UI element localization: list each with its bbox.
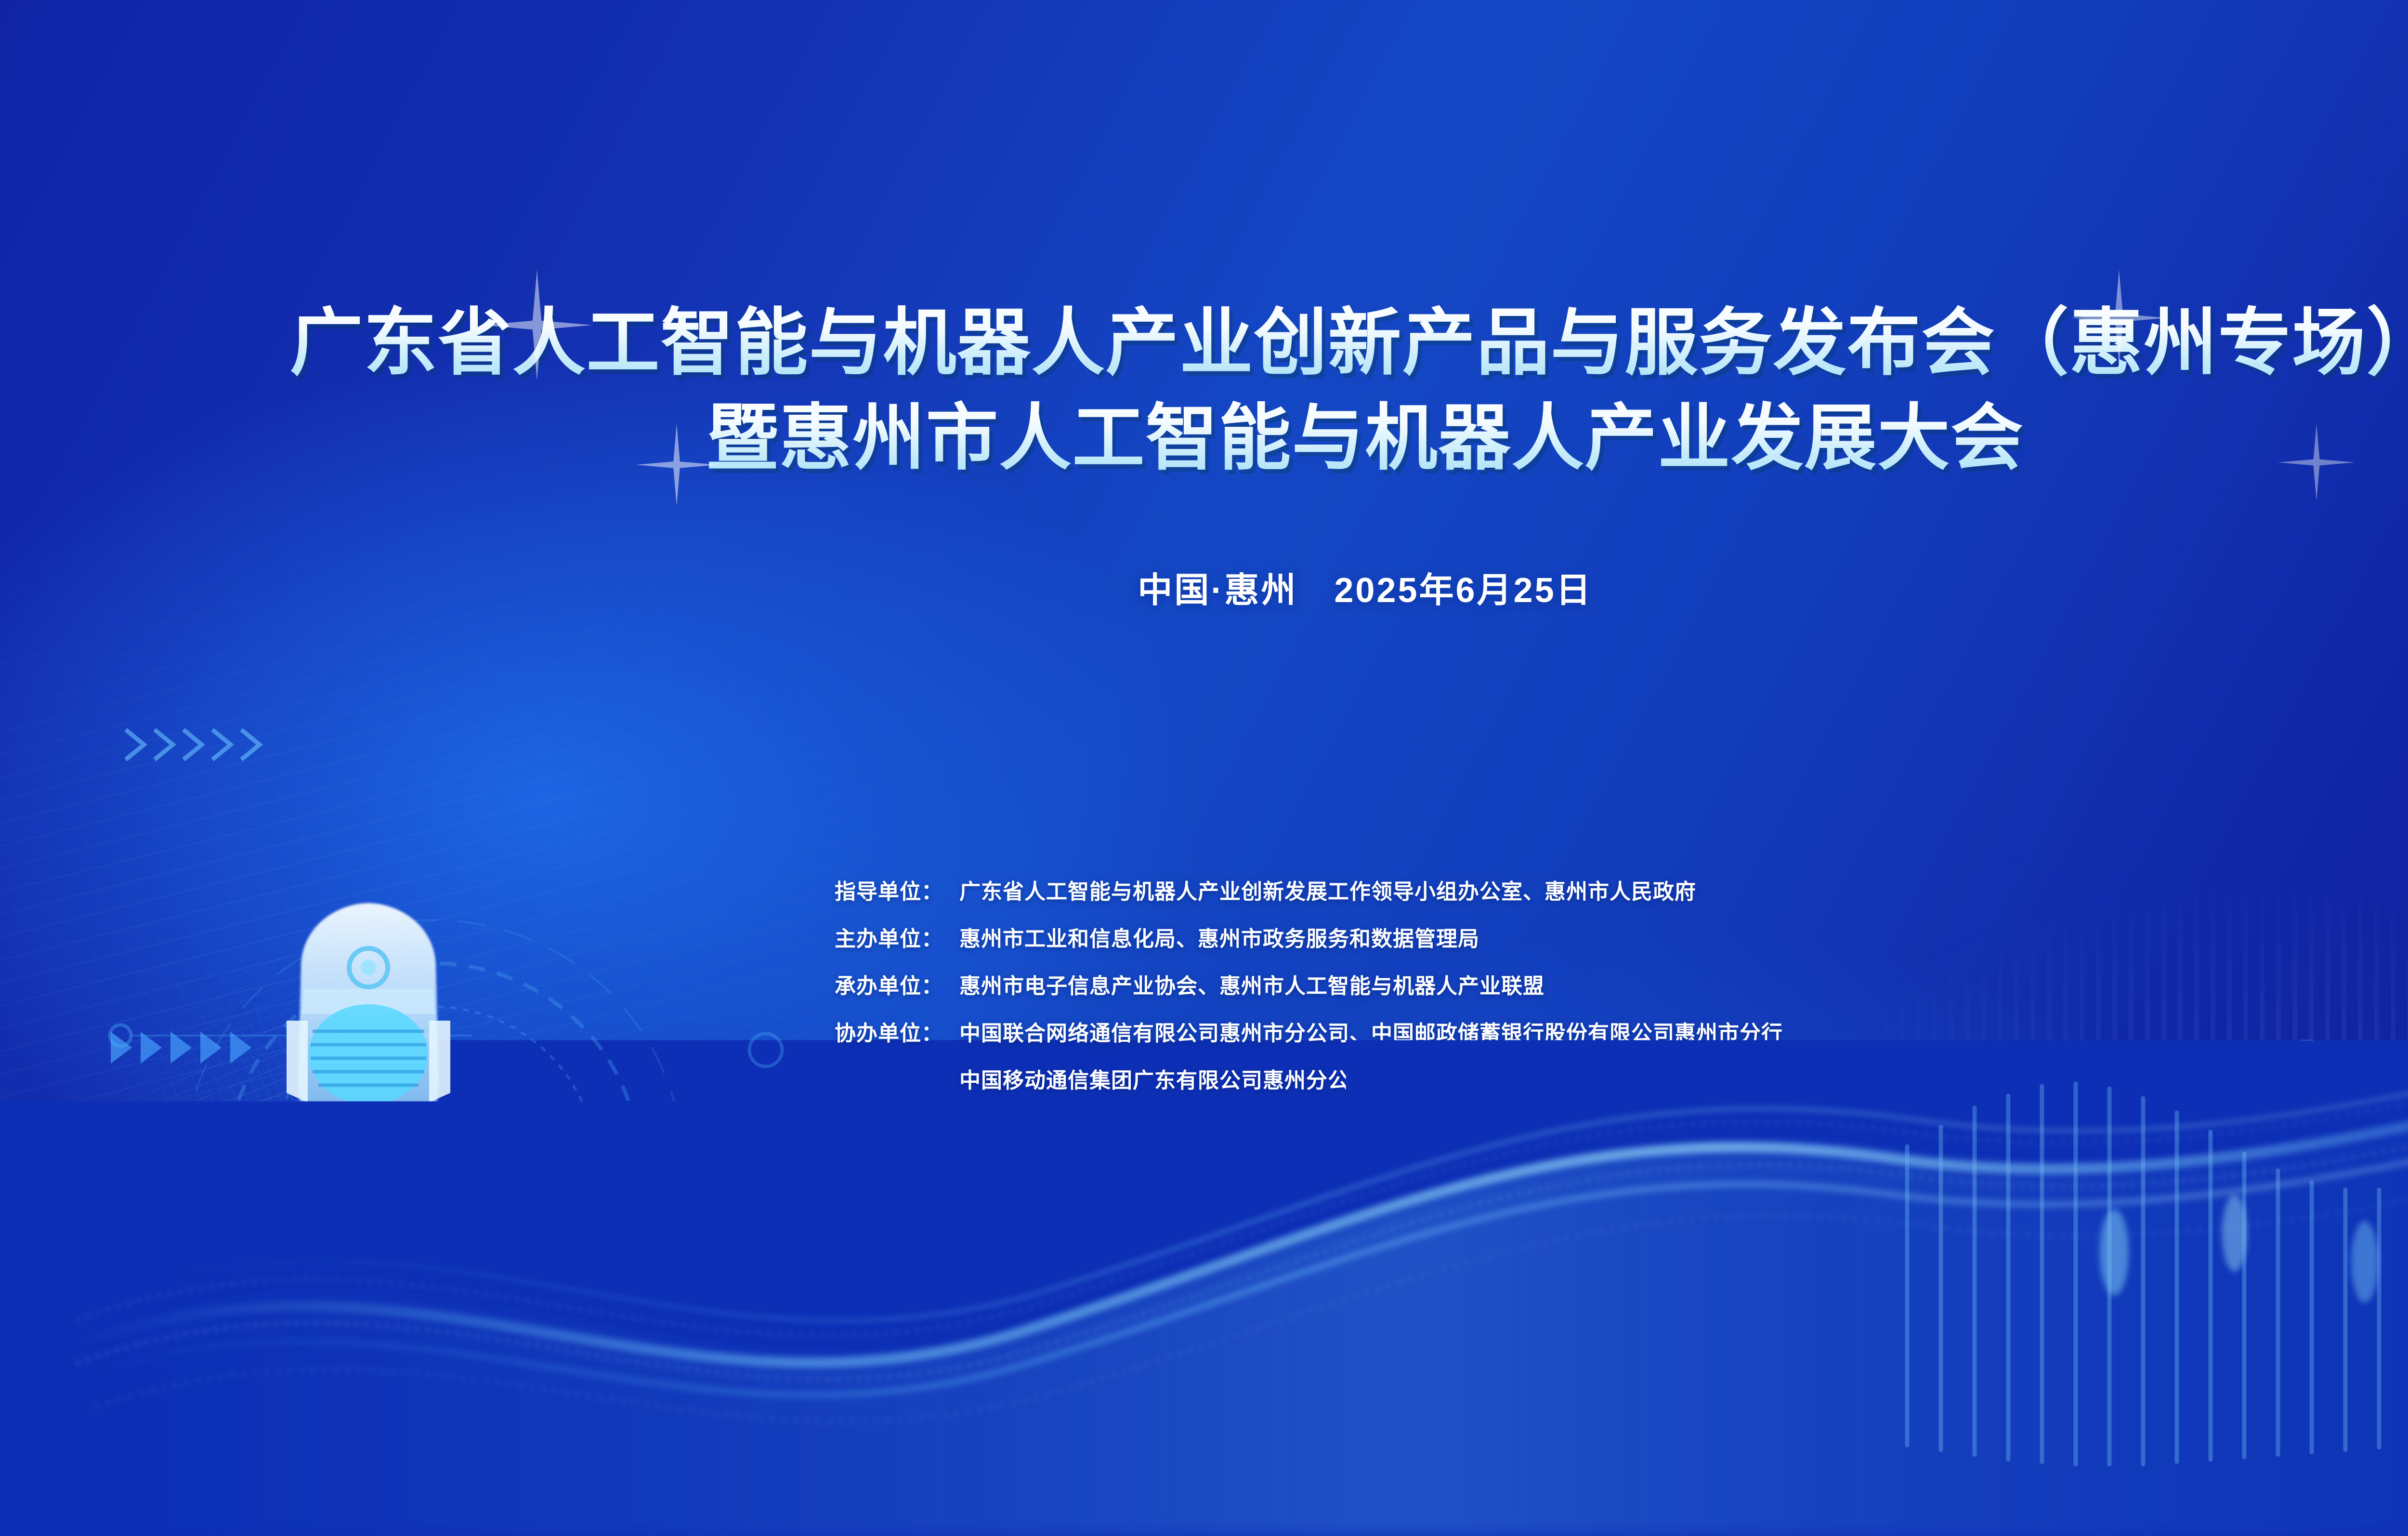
organisation-row-continuation: 协办单位： 中国移动通信集团广东有限公司惠州分公司、中国电信股份有限公司惠州分公… xyxy=(784,1063,1848,1110)
humanoid-robot-illustration xyxy=(26,900,701,1536)
organisation-label: 主办单位： xyxy=(784,921,943,952)
organisation-label: 承办单位： xyxy=(784,969,943,999)
poster-canvas: AI 广东省人工智能与机器人产业创新产品与服务发布会（惠州专场） 暨惠州市人工智… xyxy=(0,0,2408,1536)
bottom-vignette xyxy=(0,1454,2408,1536)
organisation-list: 指导单位： 广东省人工智能与机器人产业创新发展工作领导小组办公室、惠州市人民政府… xyxy=(784,874,1848,1157)
organisation-row: 主办单位： 惠州市工业和信息化局、惠州市政务服务和数据管理局 xyxy=(784,921,1848,969)
organisation-value: 惠州市工业和信息化局、惠州市政务服务和数据管理局 xyxy=(943,921,1479,952)
headline-block: 广东省人工智能与机器人产业创新产品与服务发布会（惠州专场） 暨惠州市人工智能与机… xyxy=(0,296,2408,485)
organisation-row: 承办单位： 惠州市电子信息产业协会、惠州市人工智能与机器人产业联盟 xyxy=(784,969,1848,1016)
ai-logo-mark: AI xyxy=(2349,1258,2408,1435)
chevron-arrows-outline-icon xyxy=(123,725,282,764)
organisation-value: 广东省人工智能与机器人产业创新发展工作领导小组办公室、惠州市人民政府 xyxy=(943,874,1696,905)
organisation-row: 指导单位： 广东省人工智能与机器人产业创新发展工作领导小组办公室、惠州市人民政府 xyxy=(784,874,1848,921)
organisation-value: 惠州市电子信息产业协会、惠州市人工智能与机器人产业联盟 xyxy=(943,969,1544,999)
organisation-row: 协办单位： 中国联合网络通信有限公司惠州市分公司、中国邮政储蓄银行股份有限公司惠… xyxy=(784,1016,1848,1063)
dashed-ladder-bar xyxy=(1794,1213,1816,1416)
headline-line-2: 暨惠州市人工智能与机器人产业发展大会 xyxy=(0,391,2408,485)
organisation-value: 广东省人工智能与机器人产业联盟、深圳市人工智能产业协会、大湾区（东莞）人工智能联… xyxy=(943,1110,1848,1141)
dashed-ladder-bar xyxy=(1871,1210,1887,1372)
headline-line-1: 广东省人工智能与机器人产业创新产品与服务发布会（惠州专场） xyxy=(0,296,2408,391)
organisation-row: 支持单位： 广东省人工智能与机器人产业联盟、深圳市人工智能产业协会、大湾区（东莞… xyxy=(784,1110,1848,1157)
organisation-label: 支持单位： xyxy=(784,1110,943,1141)
organisation-label: 协办单位： xyxy=(784,1016,943,1047)
organisation-label: 指导单位： xyxy=(784,874,943,905)
organisation-value: 中国联合网络通信有限公司惠州市分公司、中国邮政储蓄银行股份有限公司惠州市分行 xyxy=(943,1016,1783,1047)
organisation-value: 中国移动通信集团广东有限公司惠州分公司、中国电信股份有限公司惠州分公司 xyxy=(943,1063,1718,1094)
event-dateline: 中国·惠州 2025年6月25日 xyxy=(0,562,2408,612)
